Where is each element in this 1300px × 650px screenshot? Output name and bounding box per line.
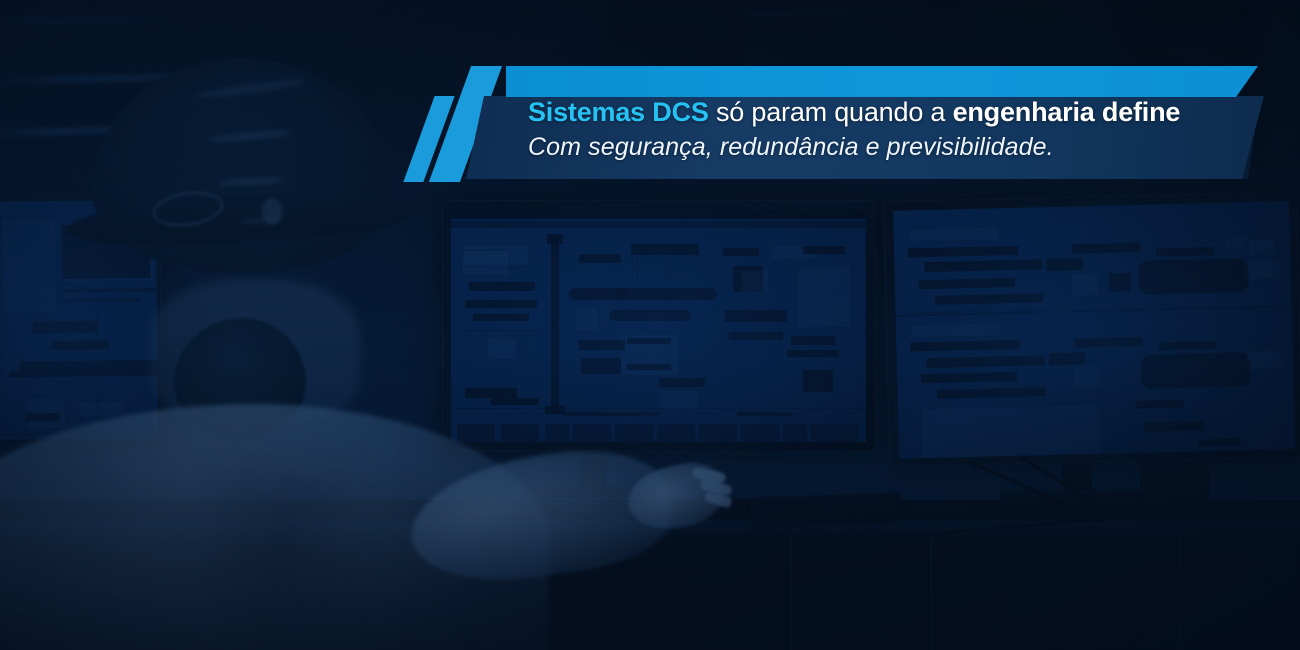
headline-subtitle: Com segurança, redundância e previsibili…: [528, 135, 1268, 160]
desk-panel-seam: [1180, 538, 1182, 650]
hero-banner-image: Sistemas DCS só param quando a engenhari…: [0, 0, 1300, 650]
monitor-right: [883, 191, 1300, 467]
headline-accent-bar: [506, 66, 1258, 97]
headline-highlight: Sistemas DCS: [528, 97, 709, 127]
headline-text-group: Sistemas DCS só param quando a engenhari…: [528, 99, 1268, 160]
headline-primary: Sistemas DCS só param quando a engenhari…: [528, 99, 1268, 126]
desk-panel-seam: [930, 538, 932, 650]
headline-banner: Sistemas DCS só param quando a engenhari…: [0, 0, 1300, 210]
desk-equipment: [1140, 460, 1210, 506]
lab-coat-shadow: [180, 470, 380, 650]
desk-panel-seam: [790, 538, 792, 650]
monitor-screen-right: [893, 201, 1295, 459]
headline-emphasis: engenharia define: [953, 97, 1181, 127]
headline-middle: só param quando a: [709, 97, 953, 127]
